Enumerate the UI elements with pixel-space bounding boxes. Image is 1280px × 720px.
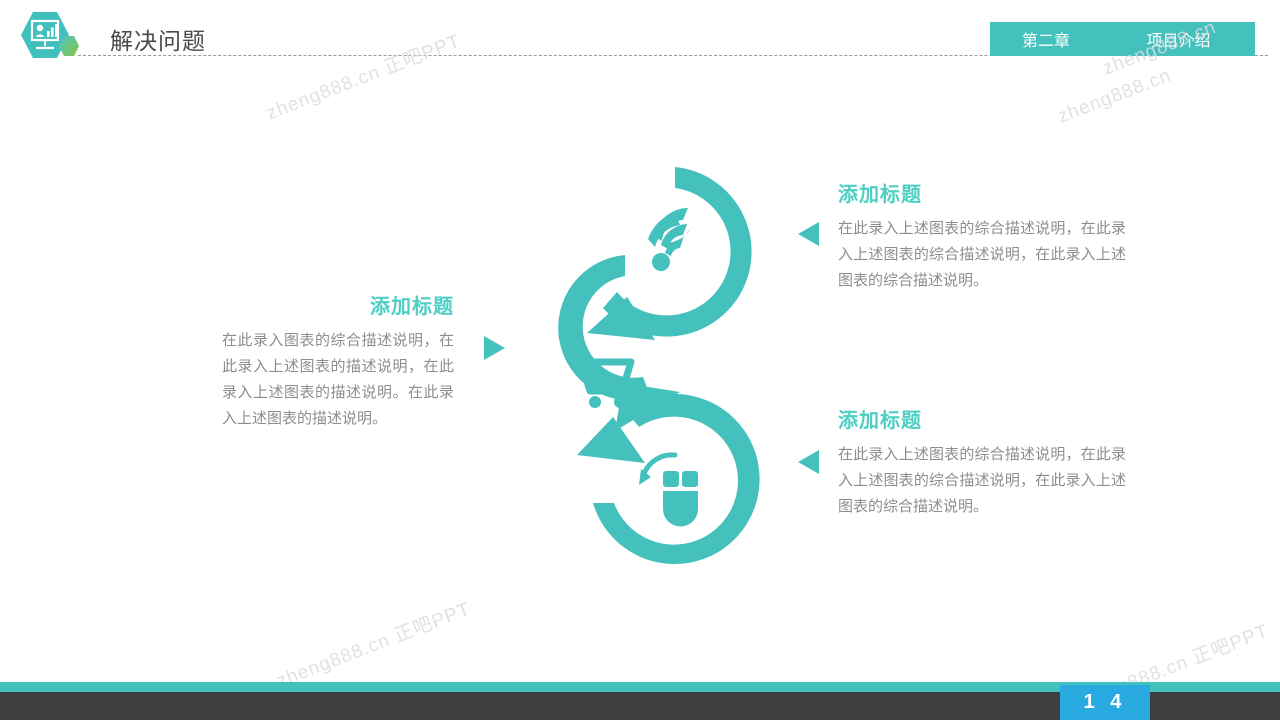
chapter-number: 第二章 [990,27,1102,51]
block-top-right-title: 添加标题 [838,178,1126,207]
wifi-signal-icon [648,208,691,271]
block-bottom-right-body: 在此录入上述图表的综合描述说明，在此录入上述图表的综合描述说明，在此录入上述图表… [838,441,1126,519]
watermark: zheng888.cn 正吧PPT [272,594,474,693]
page-title: 解决问题 [110,22,206,56]
slide-header: 解决问题 第二章 项目介绍 [0,0,1280,70]
process-cycle-diagram [505,155,795,585]
page-number: 1 4 [1060,685,1150,720]
block-bottom-right-title: 添加标题 [838,404,1126,433]
arrow-marker-bottom-right-block [798,450,819,474]
block-top-right-body: 在此录入上述图表的综合描述说明，在此录入上述图表的综合描述说明，在此录入上述图表… [838,215,1126,293]
text-block-left: 添加标题 在此录入图表的综合描述说明，在此录入上述图表的描述说明，在此录入上述图… [222,290,454,431]
text-block-bottom-right: 添加标题 在此录入上述图表的综合描述说明，在此录入上述图表的综合描述说明，在此录… [838,404,1126,519]
logo [20,10,92,60]
block-left-body: 在此录入图表的综合描述说明，在此录入上述图表的描述说明，在此录入上述图表的描述说… [222,327,454,431]
block-left-title: 添加标题 [222,290,454,319]
watermark: zheng888.cn [1055,65,1175,128]
computer-mouse-icon [639,455,698,527]
chapter-name: 项目介绍 [1102,27,1255,51]
text-block-top-right: 添加标题 在此录入上述图表的综合描述说明，在此录入上述图表的综合描述说明，在此录… [838,178,1126,293]
arrow-marker-top-right-block [798,222,819,246]
arrow-marker-left-block [484,336,505,360]
chapter-banner: 第二章 项目介绍 [990,22,1255,56]
hexagon-accent-icon [58,35,80,57]
